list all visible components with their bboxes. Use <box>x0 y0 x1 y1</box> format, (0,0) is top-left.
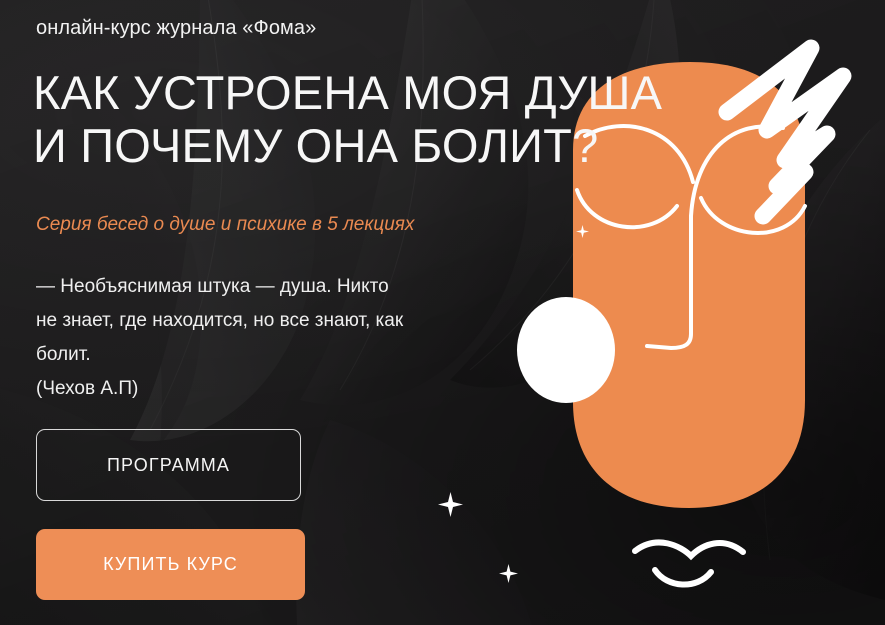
hero-section: онлайн-курс журнала «Фома» КАК УСТРОЕНА … <box>0 0 885 625</box>
buy-course-button[interactable]: КУПИТЬ КУРС <box>36 529 305 600</box>
quote-line-1: — Необъяснимая штука — душа. Никто <box>36 270 536 304</box>
program-button[interactable]: ПРОГРАММА <box>36 429 301 501</box>
course-subtitle: Серия бесед о душе и психике в 5 лекциях <box>36 212 414 238</box>
quote-line-2: не знает, где находится, но все знают, к… <box>36 304 536 338</box>
right-eyebrow <box>691 126 783 216</box>
page-title: КАК УСТРОЕНА МОЯ ДУША И ПОЧЕМУ ОНА БОЛИТ… <box>33 66 662 172</box>
quote-line-3: болит. <box>36 338 536 372</box>
quote-block: — Необъяснимая штука — душа. Никто не зн… <box>36 270 536 406</box>
lips-icon <box>635 542 743 584</box>
headline-line-2: И ПОЧЕМУ ОНА БОЛИТ? <box>33 119 662 172</box>
course-eyebrow: онлайн-курс журнала «Фома» <box>36 15 316 41</box>
headline-line-1: КАК УСТРОЕНА МОЯ ДУША <box>33 66 662 119</box>
quote-attribution: (Чехов А.П) <box>36 372 536 406</box>
hero-content: онлайн-курс журнала «Фома» КАК УСТРОЕНА … <box>36 0 596 625</box>
squiggle-icon <box>727 48 843 216</box>
nose-line <box>647 216 691 348</box>
right-closed-eye <box>701 198 805 233</box>
